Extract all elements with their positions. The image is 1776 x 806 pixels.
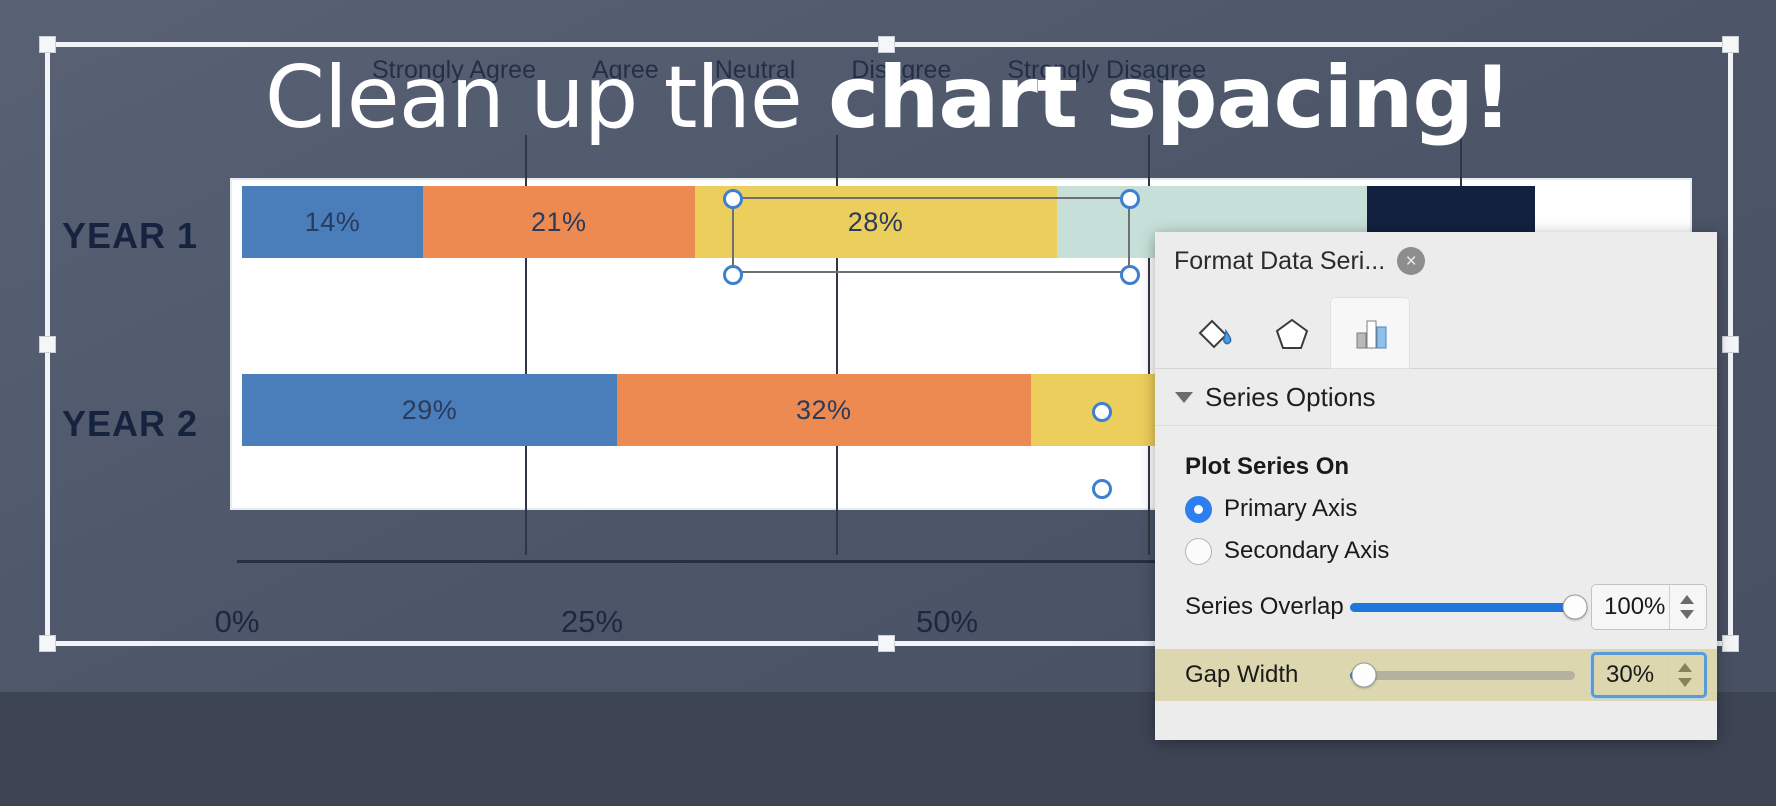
chevron-down-icon (1175, 392, 1193, 403)
bar-segment[interactable]: 21% (423, 186, 695, 258)
panel-icon-tab-strip (1155, 290, 1717, 369)
panel-title: Format Data Seri... (1174, 247, 1385, 276)
radio-secondary-axis-indicator[interactable] (1185, 538, 1212, 565)
slide-editor-canvas: Strongly Agree Agree Neutral Disagree St… (0, 0, 1776, 806)
stepper-up-icon[interactable] (1678, 663, 1692, 672)
bar-segment[interactable]: 29% (242, 374, 617, 446)
fill-line-tab[interactable] (1175, 298, 1253, 368)
gap-width-slider-knob[interactable] (1351, 663, 1376, 688)
series-handle-y1-br[interactable] (1120, 265, 1140, 285)
series-options-tab[interactable] (1331, 298, 1409, 368)
series-overlap-stepper[interactable]: 100% (1591, 584, 1707, 630)
gap-width-stepper[interactable]: 30% (1591, 652, 1707, 698)
radio-primary-axis[interactable]: Primary Axis (1185, 495, 1717, 523)
radio-secondary-axis-label: Secondary Axis (1224, 537, 1389, 565)
series-options-label: Series Options (1205, 382, 1376, 413)
stepper-down-icon[interactable] (1678, 678, 1692, 687)
x-tick-2: 50% (916, 604, 978, 640)
overlay-title-plain: Clean up the (265, 48, 828, 148)
bar-value-label: 32% (796, 395, 852, 426)
format-data-series-panel[interactable]: Format Data Seri... × (1155, 232, 1717, 740)
series-overlap-slider-knob[interactable] (1563, 595, 1588, 620)
series-overlap-slider[interactable] (1350, 603, 1575, 612)
series-options-section-header[interactable]: Series Options (1155, 370, 1717, 426)
gap-width-arrows (1667, 655, 1692, 695)
bar-value-label: 29% (402, 395, 458, 426)
x-tick-1: 25% (561, 604, 623, 640)
series-overlap-row: Series Overlap 100% (1155, 581, 1717, 633)
series-handle-y1-bl[interactable] (723, 265, 743, 285)
series-handle-y2-bl[interactable] (1092, 479, 1112, 499)
panel-body: Plot Series On Primary Axis Secondary Ax… (1155, 427, 1717, 740)
x-tick-0: 0% (215, 604, 260, 640)
close-icon[interactable]: × (1397, 247, 1425, 275)
series-handle-y1-tl[interactable] (723, 189, 743, 209)
stepper-up-icon[interactable] (1680, 595, 1694, 604)
series-overlap-slider-fill (1350, 603, 1575, 612)
effects-tab[interactable] (1253, 298, 1331, 368)
panel-titlebar: Format Data Seri... × (1155, 232, 1717, 290)
category-label-year-2: YEAR 2 (62, 403, 198, 445)
bar-segment[interactable]: 14% (242, 186, 423, 258)
paint-bucket-icon (1192, 311, 1236, 355)
radio-primary-axis-indicator[interactable] (1185, 496, 1212, 523)
radio-primary-axis-label: Primary Axis (1224, 495, 1357, 523)
bar-value-label: 14% (305, 207, 361, 238)
radio-secondary-axis[interactable]: Secondary Axis (1185, 537, 1717, 565)
series-overlap-arrows (1669, 585, 1694, 629)
gap-width-value: 30% (1606, 661, 1654, 689)
gap-width-row: Gap Width 30% (1155, 649, 1717, 701)
overlay-title-bold: chart spacing! (828, 48, 1511, 148)
bar-value-label: 21% (531, 207, 587, 238)
gap-width-slider[interactable] (1350, 671, 1575, 680)
plot-series-on-label: Plot Series On (1185, 453, 1717, 481)
bar-segment[interactable]: 32% (617, 374, 1031, 446)
series-handle-y2-tl[interactable] (1092, 402, 1112, 422)
series-overlap-value: 100% (1604, 593, 1665, 621)
bar-chart-icon (1348, 311, 1392, 355)
stepper-down-icon[interactable] (1680, 610, 1694, 619)
gap-width-label: Gap Width (1185, 661, 1350, 689)
bar-value-label: 28% (848, 207, 904, 238)
pentagon-icon (1270, 311, 1314, 355)
series-handle-y1-tr[interactable] (1120, 189, 1140, 209)
overlay-title: Clean up the chart spacing! (0, 48, 1776, 148)
series-overlap-label: Series Overlap (1185, 593, 1350, 621)
bar-segment[interactable]: 28% (695, 186, 1057, 258)
category-label-year-1: YEAR 1 (62, 215, 198, 257)
